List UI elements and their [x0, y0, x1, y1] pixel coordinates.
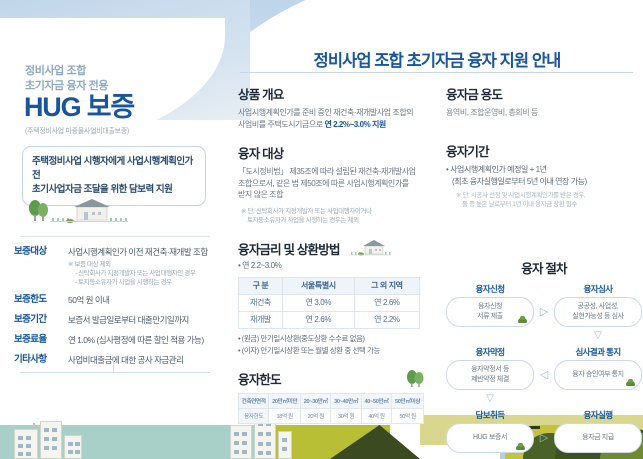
flow-arrow-left-icon: ◁	[534, 356, 554, 381]
flow-step-review: 융자심사 공공성, 사업성, 실현가능성 등 심사	[554, 283, 642, 327]
title-underline	[240, 72, 633, 73]
flow-spacer	[534, 330, 554, 343]
limit-area-header: 40~50만㎡	[361, 393, 391, 408]
section-heading: 상품 개요	[238, 84, 428, 103]
target-note-line-2: 토지등소유자가 사업을 시행하는 경우는 제외	[241, 216, 428, 226]
rate-col-header: 구 분	[239, 277, 283, 294]
row-label: 보증대상	[14, 246, 68, 258]
limit-table: 건축연면적 20만㎡미만 20~30만㎡ 30~40만㎡ 40~50만㎡ 50만…	[238, 393, 424, 424]
section-target: 융자 대상 「도시정비법」 제35조에 따라 설립된 재건축·재개발사업 조합으…	[238, 143, 428, 226]
row-label: 보증기간	[14, 314, 68, 326]
rate-bullet: • 연 2.2~3.0%	[238, 260, 428, 272]
table-row: 재건축 연 3.0% 연 2.6%	[239, 294, 420, 311]
left-divider-bottom	[20, 372, 210, 373]
table-row: 융자한도 18억 원 20억 원 30억 원 40억 원 50억 원	[239, 408, 424, 423]
flow-step-result-notice: 심사결과 통지 융자 승인여부 통지	[554, 346, 642, 390]
flow-step-apply: 융자신청 융자신청 서류 제출	[446, 283, 534, 327]
limit-area-header: 50만㎡이상	[392, 393, 424, 408]
period-bullet-1: • 사업시행계획인가 예정일 + 1년	[446, 164, 638, 176]
section-purpose: 융자금 용도 용역비, 조합운영비, 총회비 등	[446, 84, 638, 119]
flow-step-body-1: 융자약정서 등	[471, 365, 509, 375]
period-sub-note-1: ※ 단, 시공사 선정 및 사업시행계획인가를 받은 경우,	[446, 191, 638, 201]
row-value: 연 1.0% (심사평정에 따른 할인 적용 가능)	[68, 334, 220, 346]
right-column: 융자금 용도 용역비, 조합운영비, 총회비 등 융자기간 • 사업시행계획인가…	[446, 84, 638, 224]
repayment-note-1: • (원금) 만기일시상환(중도상환 수수료 없음)	[238, 333, 428, 344]
flow-step-collateral: 담보취득 HUG 보증서	[446, 409, 534, 453]
flow-step-body-2: 제반약정 체결	[471, 375, 509, 385]
row-value: 50억 원 이내	[68, 294, 220, 306]
table-row: 재개발 연 2.6% 연 2.2%	[239, 311, 420, 328]
limit-value: 30억 원	[331, 408, 361, 423]
flow-step-body-1: 융자 승인여부 통지	[572, 370, 623, 380]
section-heading: 융자기간	[446, 141, 638, 160]
flow-step-box: 융자금 지급	[554, 423, 642, 453]
flow-step-box: HUG 보증서	[446, 423, 534, 453]
section-heading: 융자 대상	[238, 143, 428, 162]
row-value: 보증서 발급일로부터 대출만기일까지	[68, 314, 220, 326]
table-row: 보증한도 50억 원 이내	[14, 294, 220, 306]
section-heading: 융자 절차	[446, 258, 642, 277]
target-line-1: 「도시정비법」 제35조에 따라 설립된 재건축·재개발사업	[238, 166, 428, 178]
row-value: 사업시행계획인가 이전 재건축·재개발 조합 ※ 보증 대상 제외 - 신탁회사…	[68, 246, 220, 287]
target-exclusion-note: ※ 단, 신탁회사가 지정개발자 또는 사업대행자이거나 토지등소유자가 사업을…	[238, 207, 428, 226]
limit-value: 50억 원	[392, 408, 424, 423]
limit-row-label: 건축연면적	[239, 393, 269, 408]
table-header-row: 건축연면적 20만㎡미만 20~30만㎡ 30~40만㎡ 40~50만㎡ 50만…	[239, 393, 424, 408]
limit-area-header: 30~40만㎡	[331, 393, 361, 408]
section-limit: 융자한도 건축연면적 20만㎡미만 20~30만㎡ 30~40만㎡ 40~50만…	[238, 369, 428, 424]
flow-step-label: 융자신청	[446, 283, 534, 295]
callout-line-1: 주택정비사업 시행자에게 사업시행계획인가 전	[32, 155, 196, 183]
rate-table: 구 분 서울특별시 그 외 지역 재건축 연 3.0% 연 2.6% 재개발 연…	[238, 277, 420, 329]
flow-spacer	[534, 393, 554, 406]
section-period: 융자기간 • 사업시행계획인가 예정일 + 1년 (최초 융자실행일로부터 5년…	[446, 141, 638, 210]
rate-cell: 재건축	[239, 294, 283, 311]
rate-heading-row: 융자금리 및 상환방법	[238, 239, 428, 260]
trees-icon	[404, 369, 428, 387]
section-heading: 융자한도	[238, 369, 281, 388]
brand-logo-text: HUG 보증	[24, 92, 134, 122]
left-divider-top	[20, 236, 210, 237]
house-and-trees-illustration	[22, 196, 142, 226]
row-value: 사업비대출금에 대한 공사 자금관리	[68, 354, 220, 366]
flow-spacer	[446, 330, 534, 343]
flow-step-label: 심사결과 통지	[554, 346, 642, 358]
rate-cell: 연 2.2%	[354, 311, 419, 328]
flow-step-disbursement: 융자실행 융자금 지급	[554, 409, 642, 453]
table-row: 기타사항 사업비대출금에 대한 공사 자금관리	[14, 354, 220, 366]
target-line-3: 받지 않은 조합	[238, 189, 428, 201]
flow-arrow-right-icon: ▷	[534, 293, 554, 318]
flow-step-label: 융자실행	[554, 409, 642, 421]
target-line-2: 조합으로서, 같은 법 제50조에 따른 사업시행계획인가를	[238, 178, 428, 190]
brand-subtitle: 정비사업 조합 초기자금 융자 전용	[25, 64, 215, 94]
left-brand-column: 정비사업 조합 초기자금 융자 전용 HUG 보증 (주택정비사업 마중물사업비…	[0, 0, 228, 459]
overview-line-2: 사업비를 주택도시기금으로 연 2.2%~3.0% 지원	[238, 119, 428, 131]
flow-step-agreement: 융자약정 융자약정서 등 제반약정 체결	[446, 346, 534, 390]
flow-step-label: 융자심사	[554, 283, 642, 295]
rate-cell: 연 2.6%	[282, 311, 354, 328]
row-label: 보증료율	[14, 334, 68, 346]
flow-step-body-2: 서류 제출	[477, 312, 503, 322]
row-sub-item: - 토지등소유자가 사업을 시행하는 경우	[68, 278, 220, 287]
rate-col-header: 서울특별시	[282, 277, 354, 294]
flow-step-body-2: 실현가능성 등 심사	[572, 312, 623, 322]
flow-step-box: 융자약정서 등 제반약정 체결	[446, 360, 534, 390]
left-divider-tick	[113, 358, 114, 372]
row-sub-notes: ※ 보증 대상 제외 - 신탁회사가 지정개발자 또는 사업대행자인 경우 - …	[68, 260, 220, 287]
flow-arrow-down-icon: ▽	[446, 393, 534, 406]
overview-rate-highlight: 연 2.2%~3.0% 지원	[324, 120, 385, 129]
repayment-note-2: • (이자) 만기일시상환 또는 월별 상환 중 선택 가능	[238, 345, 428, 356]
purpose-text: 용역비, 조합운영비, 총회비 등	[446, 107, 638, 119]
bush-icon	[626, 381, 635, 386]
row-label: 보증한도	[14, 294, 68, 306]
flow-step-label: 융자약정	[446, 346, 534, 358]
limit-value: 40억 원	[361, 408, 391, 423]
rate-cell: 연 3.0%	[282, 294, 354, 311]
flow-step-body-1: 공공성, 사업성,	[572, 302, 623, 312]
flow-step-body-1: HUG 보증서	[473, 433, 507, 443]
flow-arrow-down-icon: ▽	[554, 330, 642, 343]
flow-spacer	[554, 393, 642, 406]
flow-step-body-1: 융자금 지급	[582, 433, 614, 443]
bush-icon	[516, 445, 525, 450]
flow-grid: 융자신청 융자신청 서류 제출 ▷ 융자심사 공공성, 사업성, 실현가능성 등…	[446, 283, 642, 453]
table-row: 보증기간 보증서 발급일로부터 대출만기일까지	[14, 314, 220, 326]
target-note-line-1: ※ 단, 신탁회사가 지정개발자 또는 사업대행자이거나	[241, 207, 428, 217]
middle-column: 상품 개요 사업시행계획인가를 준비 중인 재건축·재개발사업 조합의 사업비를…	[238, 84, 428, 437]
period-sub-note-2: 둘 중 높은 날로부터 1년 이내 융자금 상환 필수	[446, 200, 638, 210]
section-overview: 상품 개요 사업시행계획인가를 준비 중인 재건축·재개발사업 조합의 사업비를…	[238, 84, 428, 130]
limit-value: 18억 원	[269, 408, 301, 423]
limit-value: 20억 원	[301, 408, 331, 423]
limit-heading-row: 융자한도	[238, 369, 428, 388]
row-label: 기타사항	[14, 354, 68, 366]
section-heading: 융자금리 및 상환방법	[238, 239, 340, 258]
flow-step-box: 공공성, 사업성, 실현가능성 등 심사	[554, 297, 642, 327]
page-title: 정비사업 조합 초기자금 융자 지원 안내	[238, 47, 636, 71]
brand-subtitle-line1: 정비사업 조합	[25, 64, 215, 79]
infographic-page: 정비사업 조합 초기자금 융자 전용 HUG 보증 (주택정비사업 마중물사업비…	[0, 0, 643, 459]
flow-step-box: 융자 승인여부 통지	[554, 360, 642, 390]
section-heading: 융자금 용도	[446, 84, 638, 103]
callout-line-2: 초기사업자금 조달을 위한 담보력 지원	[32, 183, 196, 197]
flow-step-box: 융자신청 서류 제출	[446, 297, 534, 327]
rate-cell: 연 2.6%	[354, 294, 419, 311]
limit-area-header: 20만㎡미만	[269, 393, 301, 408]
table-row: 보증료율 연 1.0% (심사평정에 따른 할인 적용 가능)	[14, 334, 220, 346]
section-rate: 융자금리 및 상환방법 • 연 2.2~3.0%	[238, 239, 428, 356]
overview-line-2-prefix: 사업비를 주택도시기금으로	[238, 120, 324, 129]
row-sub-title: ※ 보증 대상 제외	[68, 260, 220, 269]
guarantee-summary-table: 보증대상 사업시행계획인가 이전 재건축·재개발 조합 ※ 보증 대상 제외 -…	[14, 246, 220, 373]
rate-col-header: 그 외 지역	[354, 277, 419, 294]
rate-cell: 재개발	[239, 311, 283, 328]
small-house-icon	[345, 239, 393, 257]
flow-step-label: 담보취득	[446, 409, 534, 421]
bush-icon	[518, 318, 527, 323]
row-value-text: 사업시행계획인가 이전 재건축·재개발 조합	[68, 247, 208, 257]
brand-product-note: (주택정비사업 마중물사업비대출보증)	[25, 126, 225, 136]
limit-area-header: 20~30만㎡	[301, 393, 331, 408]
overview-line-1: 사업시행계획인가를 준비 중인 재건축·재개발사업 조합의	[238, 107, 428, 119]
table-row: 보증대상 사업시행계획인가 이전 재건축·재개발 조합 ※ 보증 대상 제외 -…	[14, 246, 220, 287]
period-bullet-2: (최초 융자실행일로부터 5년 이내 연장 가능)	[446, 176, 638, 188]
limit-row-label: 융자한도	[239, 408, 269, 423]
table-header-row: 구 분 서울특별시 그 외 지역	[239, 277, 420, 294]
flow-step-body-1: 융자신청	[477, 302, 503, 312]
row-sub-item: - 신탁회사가 지정개발자 또는 사업대행자인 경우	[68, 269, 220, 278]
flow-arrow-right-icon: ▷	[534, 419, 554, 444]
loan-process-flow: 융자 절차 융자신청 융자신청 서류 제출 ▷ 융자심사 공	[446, 258, 642, 453]
